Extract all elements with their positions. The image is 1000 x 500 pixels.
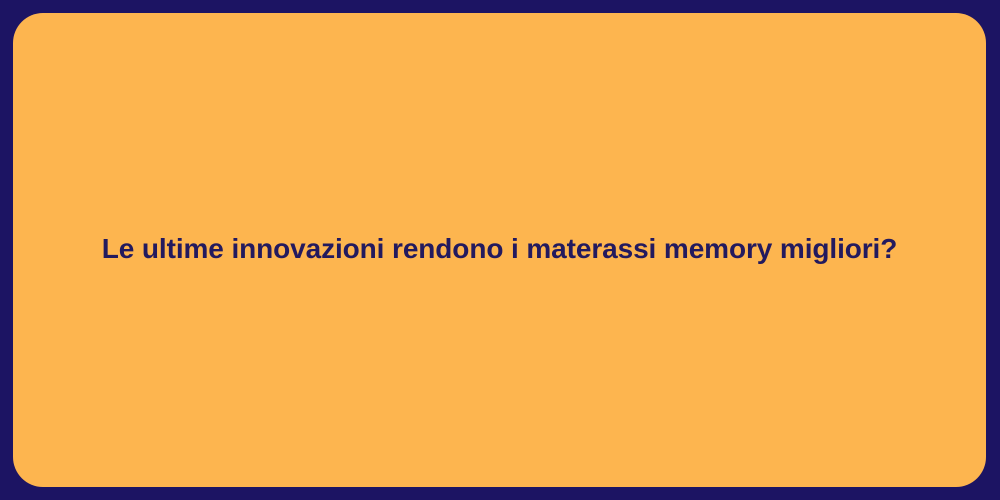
banner-container: Le ultime innovazioni rendono i materass… xyxy=(0,0,1000,500)
banner-panel: Le ultime innovazioni rendono i materass… xyxy=(13,13,986,487)
banner-heading: Le ultime innovazioni rendono i materass… xyxy=(13,231,986,266)
